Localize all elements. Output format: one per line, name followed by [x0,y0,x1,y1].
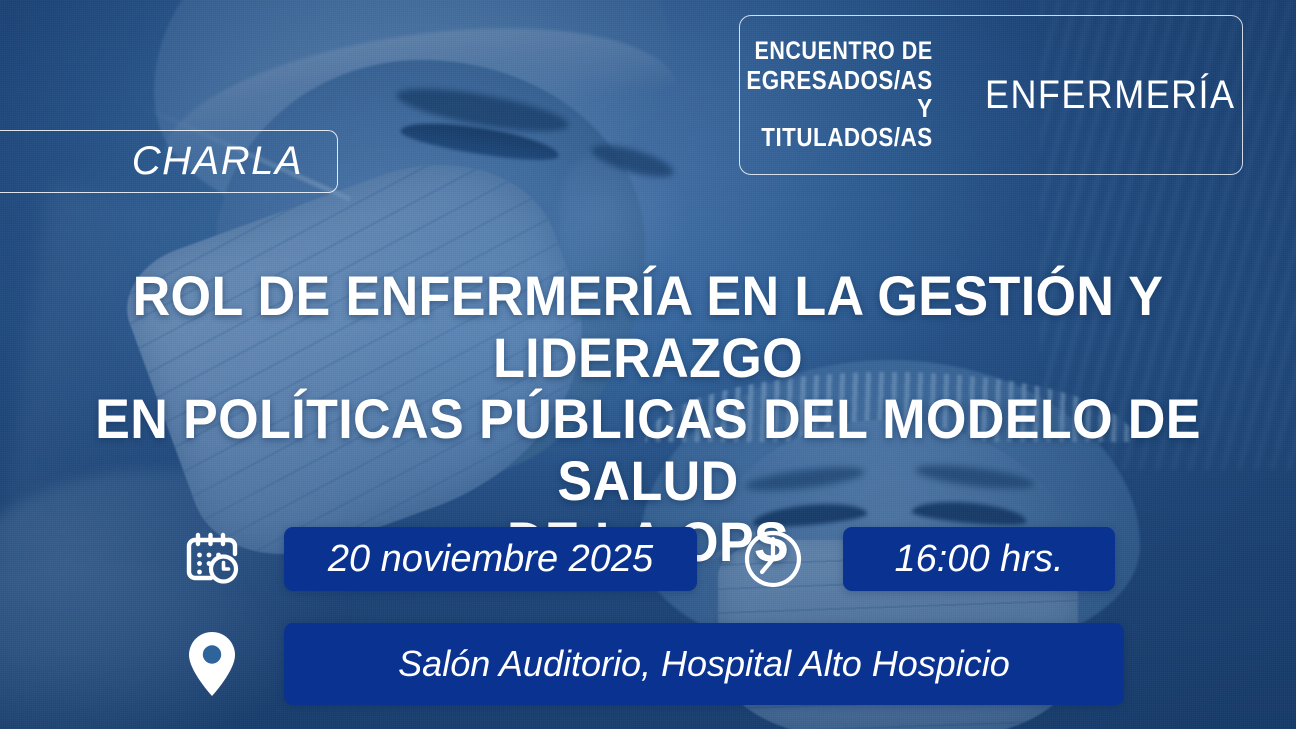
event-location-value: Salón Auditorio, Hospital Alto Hospicio [398,643,1010,685]
title-line-2: EN POLÍTICAS PÚBLICAS DEL MODELO DE SALU… [45,388,1250,511]
event-time-pill: 16:00 hrs. [843,527,1115,591]
detail-row-datetime: 20 noviembre 2025 16:00 hrs. [0,527,1296,591]
charla-badge-label: CHARLA [132,139,303,184]
logo-program-name: ENFERMERÍA [958,73,1235,118]
logo-line-3: Y TITULADOS/AS [746,94,932,151]
detail-row-location: Salón Auditorio, Hospital Alto Hospicio [0,623,1296,705]
title-line-1: ROL DE ENFERMERÍA EN LA GESTIÓN Y LIDERA… [45,265,1250,388]
event-logo-box: ENCUENTRO DE EGRESADOS/AS Y TITULADOS/AS… [739,15,1243,175]
event-date-pill: 20 noviembre 2025 [284,527,697,591]
map-pin-icon [176,628,248,700]
charla-badge: CHARLA [0,130,338,193]
logo-line-1: ENCUENTRO DE [746,38,932,66]
event-details: 20 noviembre 2025 16:00 hrs. [0,527,1296,705]
calendar-clock-icon [176,528,248,590]
event-location-pill: Salón Auditorio, Hospital Alto Hospicio [284,623,1124,705]
event-poster: ENCUENTRO DE EGRESADOS/AS Y TITULADOS/AS… [0,0,1296,729]
clock-icon [737,528,809,590]
event-time-value: 16:00 hrs. [895,538,1064,581]
event-date-value: 20 noviembre 2025 [328,538,653,581]
logo-event-name: ENCUENTRO DE EGRESADOS/AS Y TITULADOS/AS [716,38,959,151]
logo-line-2: EGRESADOS/AS [746,66,932,95]
